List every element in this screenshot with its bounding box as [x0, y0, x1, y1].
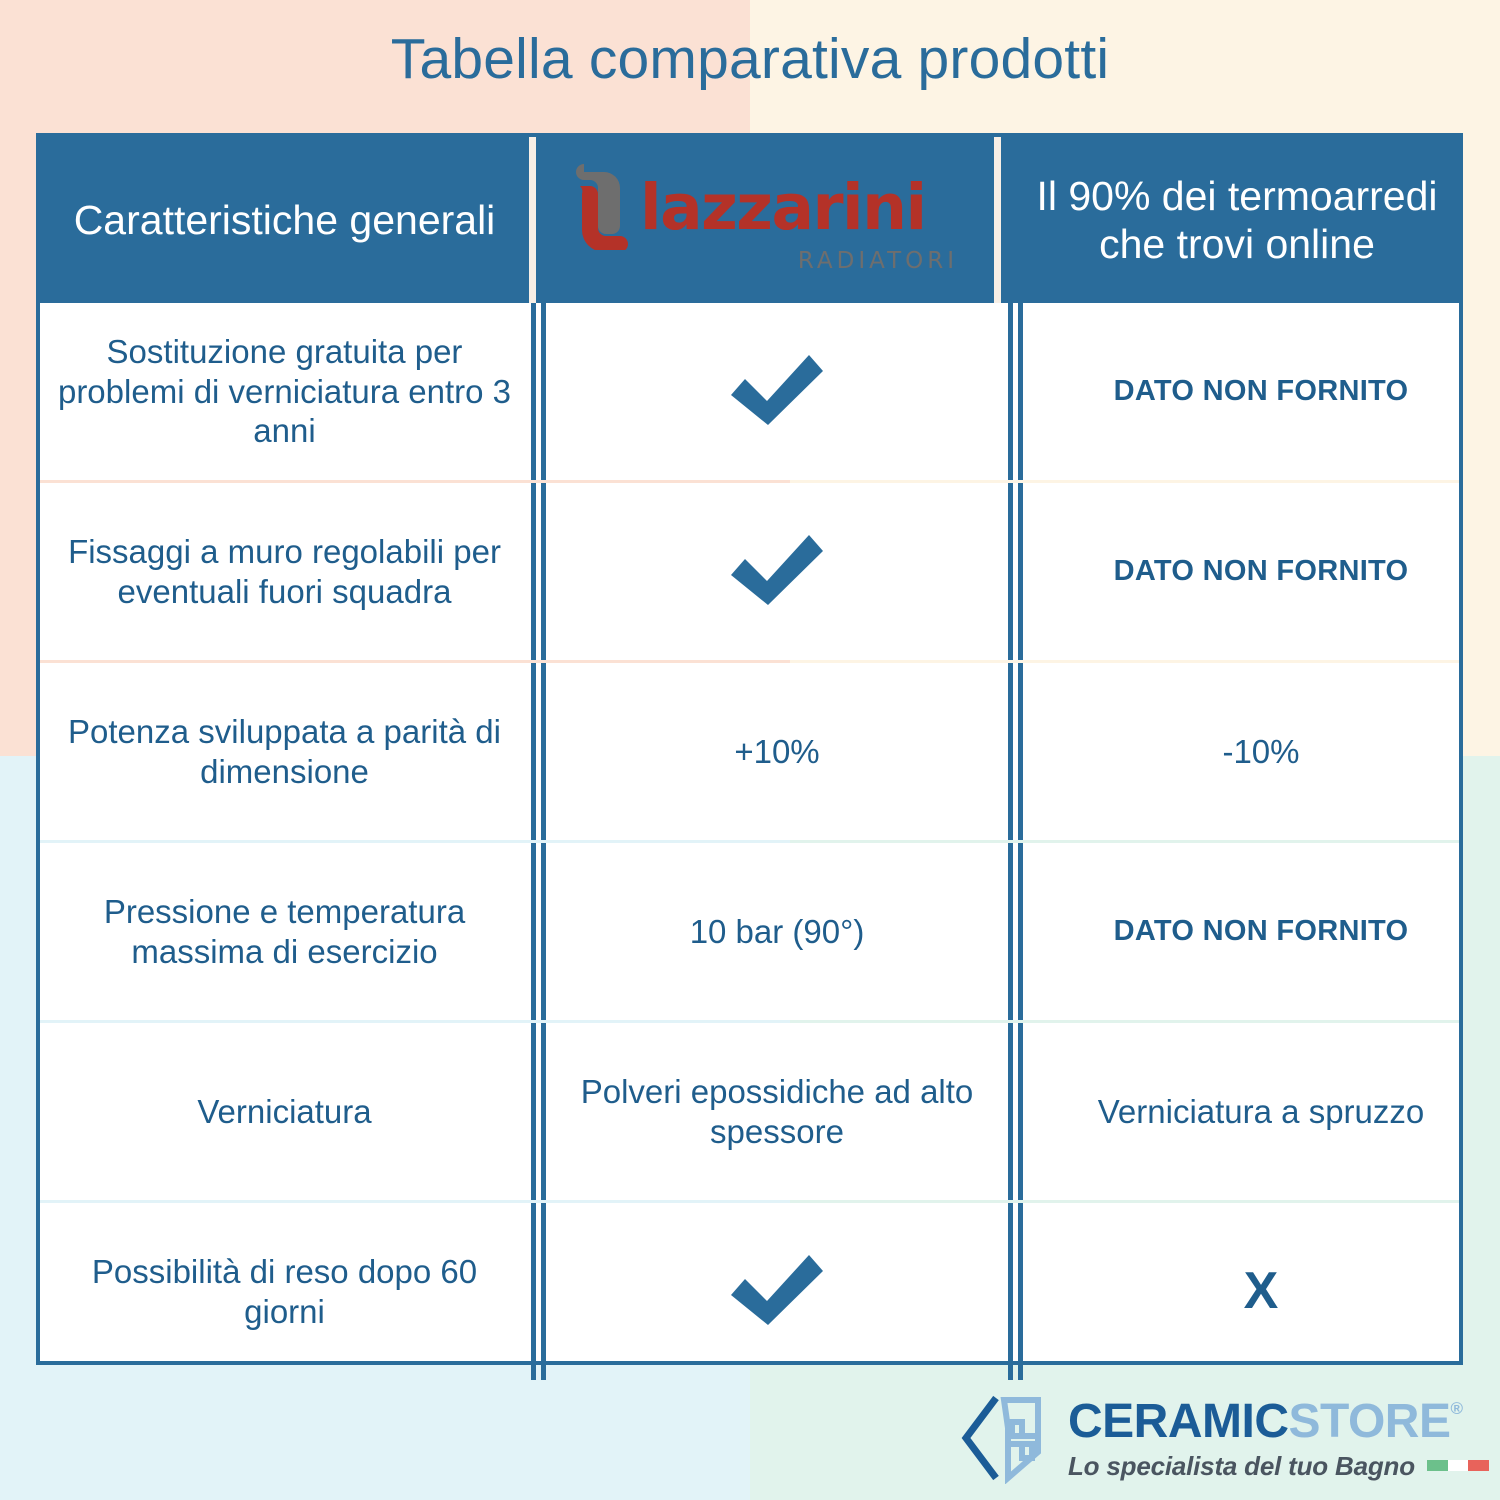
lazzarini-subtitle-wrap: RADIATORI [572, 250, 980, 275]
ceramicstore-diamond-icon [960, 1392, 1052, 1484]
competitor-value: DATO NON FORNITO [1114, 554, 1409, 589]
lazzarini-subtitle: RADIATORI [798, 248, 958, 275]
table-row: Sostituzione gratuita per problemi di ve… [40, 303, 1459, 480]
table-row: Possibilità di reso dopo 60 giorni X [40, 1203, 1459, 1380]
column-divider [529, 843, 548, 1020]
competitor-value: Verniciatura a spruzzo [1098, 1092, 1425, 1132]
ceramicstore-wordmark: CERAMICSTORE® [1068, 1398, 1489, 1446]
ceramicstore-tagline: Lo specialista del tuo Bagno [1068, 1453, 1415, 1479]
comparison-table: Caratteristiche generali lazzarini RADIA… [36, 133, 1463, 1365]
cell-lazzarini: +10% [548, 663, 1006, 840]
column-divider [1006, 843, 1025, 1020]
cell-competitor: -10% [1025, 663, 1497, 840]
header-cell-brand: lazzarini RADIATORI [536, 137, 994, 303]
column-divider [1006, 1023, 1025, 1200]
lazzarini-logo: lazzarini RADIATORI [550, 164, 980, 275]
check-icon [723, 531, 831, 613]
feature-label: Potenza sviluppata a parità di dimension… [54, 712, 515, 791]
lazzarini-logo-top: lazzarini [572, 164, 926, 250]
ceramicstore-logo: CERAMICSTORE® Lo specialista del tuo Bag… [960, 1392, 1489, 1484]
cell-competitor: DATO NON FORNITO [1025, 843, 1497, 1020]
competitor-value: DATO NON FORNITO [1114, 374, 1409, 409]
column-divider [529, 1203, 548, 1380]
table-row: Pressione e temperatura massima di eserc… [40, 843, 1459, 1020]
competitor-value: -10% [1222, 732, 1299, 772]
cross-icon: X [1244, 1260, 1279, 1322]
cell-feature: Possibilità di reso dopo 60 giorni [40, 1203, 529, 1380]
column-divider [529, 303, 548, 480]
header-divider-2 [994, 137, 1001, 303]
lazzarini-value: +10% [734, 732, 819, 772]
feature-label: Sostituzione gratuita per problemi di ve… [54, 332, 515, 451]
feature-label: Verniciatura [197, 1092, 371, 1132]
header-cell-features: Caratteristiche generali [40, 137, 529, 303]
column-divider [529, 663, 548, 840]
italian-flag-icon [1427, 1460, 1489, 1471]
column-divider [529, 1023, 548, 1200]
cell-lazzarini: Polveri epossidiche ad alto spessore [548, 1023, 1006, 1200]
column-divider [529, 483, 548, 660]
registered-mark-icon: ® [1450, 1400, 1462, 1417]
table-row: Fissaggi a muro regolabili per eventuali… [40, 483, 1459, 660]
competitor-value: DATO NON FORNITO [1114, 914, 1409, 949]
header-divider-1 [529, 137, 536, 303]
lazzarini-wordmark: lazzarini [640, 176, 926, 239]
cell-competitor: X [1025, 1203, 1497, 1380]
column-divider [1006, 483, 1025, 660]
cell-feature: Fissaggi a muro regolabili per eventuali… [40, 483, 529, 660]
lazzarini-hook-icon [572, 164, 630, 250]
table-header-row: Caratteristiche generali lazzarini RADIA… [40, 137, 1459, 303]
table-row: Potenza sviluppata a parità di dimension… [40, 663, 1459, 840]
lazzarini-value: 10 bar (90°) [690, 912, 865, 952]
cell-lazzarini: 10 bar (90°) [548, 843, 1006, 1020]
cell-lazzarini [548, 483, 1006, 660]
feature-label: Fissaggi a muro regolabili per eventuali… [54, 532, 515, 611]
page-title: Tabella comparativa prodotti [0, 26, 1500, 92]
column-divider [1006, 1203, 1025, 1380]
check-icon [723, 351, 831, 433]
cell-feature: Sostituzione gratuita per problemi di ve… [40, 303, 529, 480]
header-cell-competitor: Il 90% dei termoarredi che trovi online [1001, 137, 1473, 303]
ceramicstore-word-secondary: STORE [1289, 1398, 1451, 1446]
feature-label: Pressione e temperatura massima di eserc… [54, 892, 515, 971]
cell-lazzarini [548, 1203, 1006, 1380]
feature-label: Possibilità di reso dopo 60 giorni [54, 1252, 515, 1331]
cell-lazzarini [548, 303, 1006, 480]
ceramicstore-word-primary: CERAMIC [1068, 1398, 1289, 1446]
lazzarini-value: Polveri epossidiche ad alto spessore [562, 1072, 992, 1151]
column-divider [1006, 663, 1025, 840]
cell-feature: Potenza sviluppata a parità di dimension… [40, 663, 529, 840]
cell-competitor: Verniciatura a spruzzo [1025, 1023, 1497, 1200]
cell-competitor: DATO NON FORNITO [1025, 303, 1497, 480]
ceramicstore-text-block: CERAMICSTORE® Lo specialista del tuo Bag… [1068, 1398, 1489, 1479]
ceramicstore-tagline-row: Lo specialista del tuo Bagno [1068, 1453, 1489, 1479]
cell-competitor: DATO NON FORNITO [1025, 483, 1497, 660]
column-divider [1006, 303, 1025, 480]
cell-feature: Verniciatura [40, 1023, 529, 1200]
table-row: Verniciatura Polveri epossidiche ad alto… [40, 1023, 1459, 1200]
check-icon [723, 1251, 831, 1333]
cell-feature: Pressione e temperatura massima di eserc… [40, 843, 529, 1020]
